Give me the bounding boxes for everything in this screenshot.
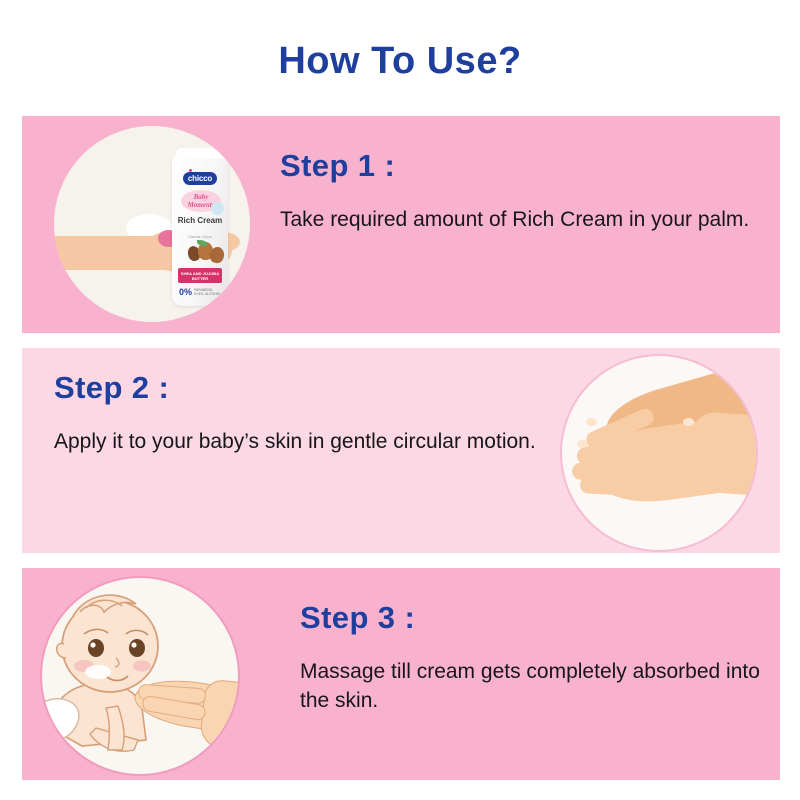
zero-percent-text: PARABENS, DYES, ALCOHOL: [194, 288, 223, 296]
step-2-body: Apply it to your baby’s skin in gentle c…: [54, 428, 544, 457]
step-1-text-block: Step 1 : Take required amount of Rich Cr…: [280, 148, 770, 235]
step-1-illustration: chicco Baby Moments Rich Cream Crema Cor…: [54, 126, 250, 322]
product-tube: chicco Baby Moments Rich Cream Crema Cor…: [172, 154, 228, 306]
zero-percent-claim: 0% PARABENS, DYES, ALCOHOL: [179, 287, 223, 297]
step-3-body: Massage till cream gets completely absor…: [300, 658, 770, 716]
step-2-band: Step 2 : Apply it to your baby’s skin in…: [22, 348, 780, 553]
step-3-text-block: Step 3 : Massage till cream gets complet…: [300, 600, 770, 716]
fingernail-shape: [577, 440, 588, 448]
zero-percent-value: 0%: [179, 287, 192, 297]
step-3-heading: Step 3 :: [300, 600, 770, 636]
page-title: How To Use?: [0, 40, 800, 83]
product-name-label: Rich Cream: [172, 216, 228, 225]
step-2-heading: Step 2 :: [54, 370, 544, 406]
baby-massage-illustration: [42, 578, 238, 774]
step-3-band: Step 3 : Massage till cream gets complet…: [22, 568, 780, 780]
claim-banner: SHEA AND JOJOBA BUTTER: [178, 268, 222, 283]
baby-line-art-icon: [42, 578, 238, 774]
tube-cap-shape: [176, 148, 224, 158]
step-2-text-block: Step 2 : Apply it to your baby’s skin in…: [54, 370, 544, 457]
front-forearm-shape: [687, 411, 758, 497]
hand-holding-tube-illustration: chicco Baby Moments Rich Cream Crema Cor…: [54, 126, 250, 322]
two-hands-rubbing-illustration: [562, 356, 756, 550]
shea-nuts-icon: [188, 240, 226, 266]
fingernail-shape: [683, 418, 694, 426]
dermatologist-seal-icon: [211, 202, 224, 215]
step-2-illustration: [560, 354, 758, 552]
fingernail-shape: [586, 418, 597, 426]
step-1-band: chicco Baby Moments Rich Cream Crema Cor…: [22, 116, 780, 333]
step-1-body: Take required amount of Rich Cream in yo…: [280, 206, 770, 235]
chicco-logo: chicco: [183, 172, 217, 185]
product-subtitle-label: Crema Corpo: [172, 234, 228, 239]
step-1-heading: Step 1 :: [280, 148, 770, 184]
step-3-illustration: [40, 576, 240, 776]
how-to-use-infographic: How To Use? chicco Baby Moments Rich Cre…: [0, 0, 800, 800]
